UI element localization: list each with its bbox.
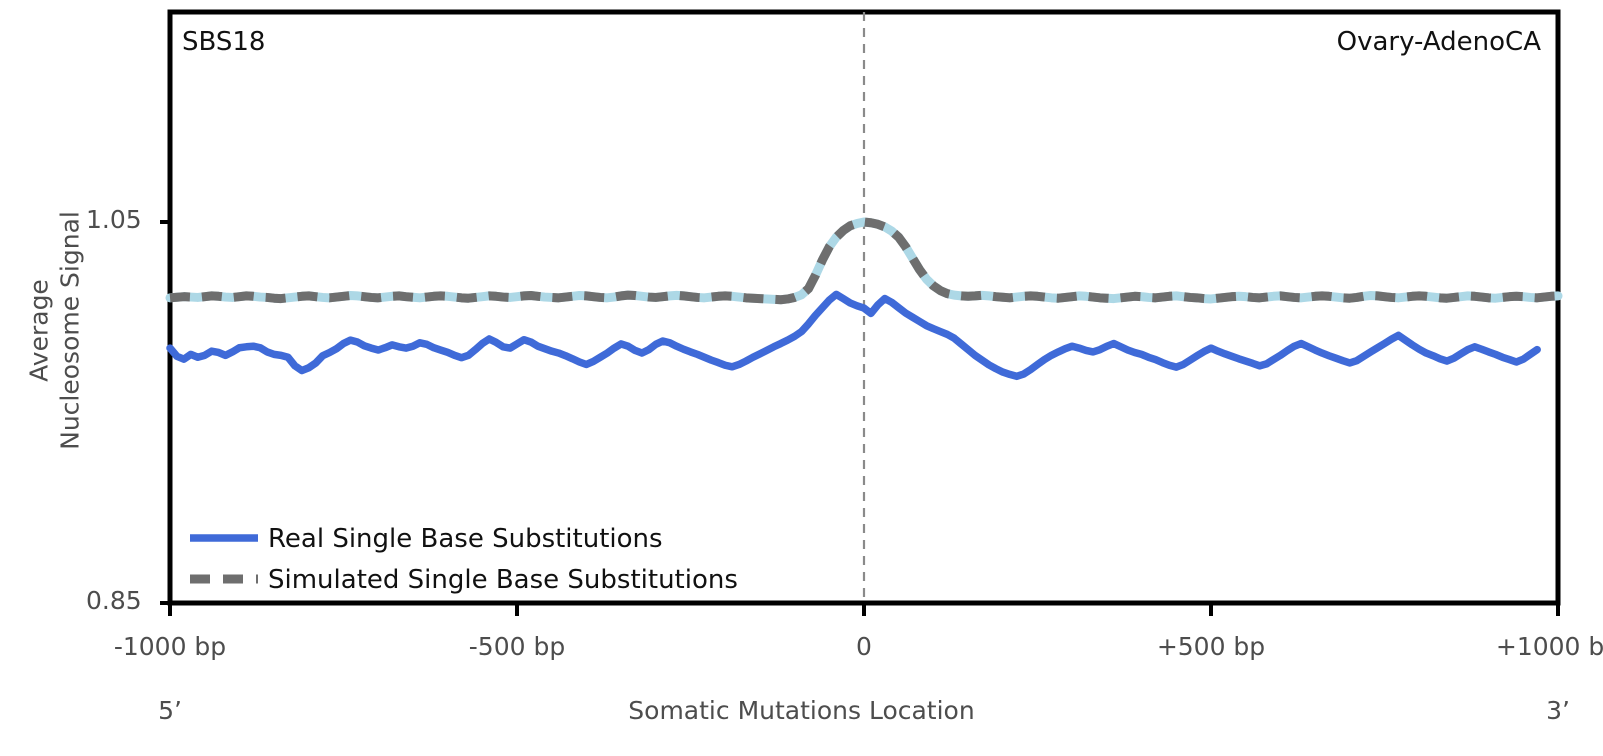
legend-label-real: Real Single Base Substitutions xyxy=(268,524,663,554)
x-axis-label: Somatic Mutations Location xyxy=(628,696,974,725)
x-tick-label-4: +1000 bp xyxy=(1496,632,1603,661)
plot-canvas xyxy=(0,0,1603,756)
real-series-line xyxy=(170,294,1537,376)
nucleosome-signal-figure: SBS18 Ovary-AdenoCA 1.05 0.85 Average Nu… xyxy=(0,0,1603,756)
y-tick-label-top: 1.05 xyxy=(86,205,142,234)
three-prime-label: 3’ xyxy=(1546,696,1570,725)
five-prime-label: 5’ xyxy=(158,696,182,725)
x-tick-label-1: -500 bp xyxy=(469,632,565,661)
cancer-type-label: Ovary-AdenoCA xyxy=(1337,27,1541,57)
y-axis-label-line2: Nucleosome Signal xyxy=(55,181,86,481)
x-tick-label-0: -1000 bp xyxy=(114,632,226,661)
y-axis-label: Average Nucleosome Signal xyxy=(25,181,86,481)
x-tick-label-3: +500 bp xyxy=(1157,632,1265,661)
signature-label: SBS18 xyxy=(182,27,265,57)
legend-label-simulated: Simulated Single Base Substitutions xyxy=(268,565,738,595)
y-axis-label-line1: Average xyxy=(25,181,56,481)
x-tick-label-2: 0 xyxy=(856,632,872,661)
y-tick-label-bottom: 0.85 xyxy=(86,586,142,615)
